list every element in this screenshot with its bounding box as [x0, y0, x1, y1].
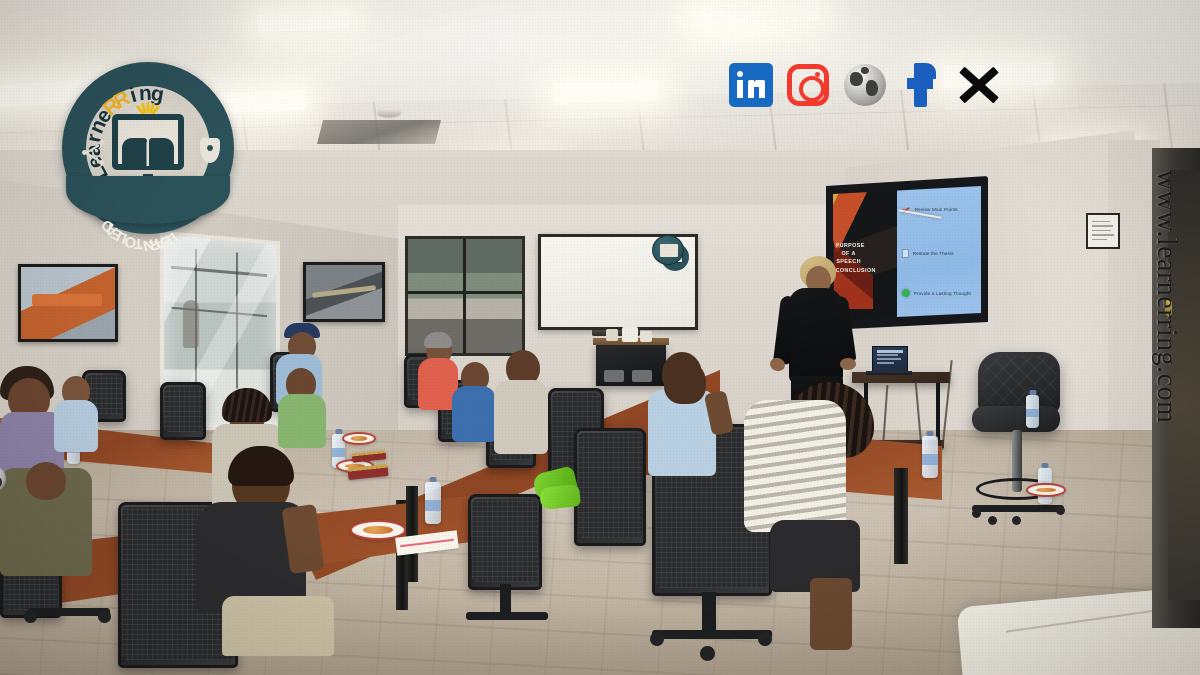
- chair-caster: [24, 610, 37, 623]
- table-leg: [894, 468, 908, 564]
- ceiling-vent: [317, 120, 441, 144]
- drafting-chair-seat: [972, 406, 1060, 432]
- document-icon: [902, 249, 909, 258]
- helicopter-photo: [18, 264, 118, 342]
- water-bottle: [922, 436, 938, 478]
- office-chair: [468, 494, 542, 590]
- wall-seal-logo: [652, 235, 684, 265]
- chair-caster: [1056, 506, 1065, 515]
- supply-cup: [606, 329, 618, 341]
- slide-bullet-3: Provide a Lasting Thought: [902, 289, 978, 297]
- chair-post: [702, 592, 716, 634]
- instagram-icon[interactable]: [785, 62, 831, 108]
- badge-tagline: LEARN TO LEAD: [62, 186, 234, 232]
- ceiling-led-panel: [554, 80, 659, 104]
- supply-bag: [640, 331, 652, 342]
- slide-bullet-3-text: Provide a Lasting Thought: [914, 291, 971, 296]
- social-media-bar: [728, 58, 1002, 112]
- chair-caster: [758, 632, 772, 646]
- drafting-chair-back: [978, 352, 1060, 414]
- background-figure: [183, 300, 199, 348]
- presentation-slide: PURPOSE OF A SPEECH CONCLUSION Review Ma…: [833, 186, 981, 320]
- smoke-detector-icon: [378, 108, 400, 116]
- learnerring-logo-badge: LearneRRing LEARN TO LEAD: [62, 62, 234, 234]
- chair-caster: [650, 632, 664, 646]
- chair-base: [466, 612, 548, 620]
- linkedin-icon[interactable]: [728, 62, 774, 108]
- open-book-icon: [122, 138, 174, 168]
- chair-caster: [700, 646, 715, 661]
- screenshot-root: PURPOSE OF A SPEECH CONCLUSION Review Ma…: [0, 0, 1200, 675]
- student-hair: [424, 332, 452, 348]
- student-body: [494, 380, 548, 454]
- chair-base: [652, 630, 772, 639]
- student-striped-shirt: [744, 400, 846, 532]
- slide-title: PURPOSE OF A SPEECH CONCLUSION: [836, 242, 862, 274]
- slide-title-line-1: PURPOSE OF A: [836, 242, 862, 258]
- aircraft-photo: [303, 262, 385, 322]
- office-chair: [160, 382, 206, 440]
- chair-caster: [988, 516, 997, 525]
- slide-bullet-2-text: Restate the Thesis: [913, 251, 954, 256]
- student-body: [54, 400, 98, 452]
- website-url-watermark: www.learnerring.com: [1150, 170, 1182, 423]
- chair-caster: [1012, 516, 1021, 525]
- exterior-window: [405, 236, 525, 356]
- chair-caster: [972, 509, 981, 518]
- slide-title-line-3: CONCLUSION: [836, 267, 862, 275]
- storage-cabinet: [596, 344, 666, 386]
- student-body: [452, 386, 496, 442]
- student-body: [278, 394, 326, 448]
- slide-bullet-panel: Review Main Points Restate the Thesis Pr…: [897, 186, 981, 320]
- slide-title-line-2: SPEECH: [836, 258, 862, 266]
- slide-bullet-2: Restate the Thesis: [902, 249, 978, 258]
- green-dot-icon: [902, 289, 910, 297]
- ceiling-led-panel: [700, 12, 760, 26]
- student-shorts: [222, 596, 334, 656]
- table-leg: [406, 486, 418, 582]
- office-chair: [574, 428, 646, 546]
- laptop-keyboard: [866, 371, 912, 375]
- student-head: [664, 360, 706, 404]
- water-bottle: [425, 482, 441, 524]
- chair-caster: [98, 610, 111, 623]
- water-bottle: [1026, 395, 1039, 428]
- snack-plate: [342, 432, 376, 445]
- facebook-icon[interactable]: [899, 62, 945, 108]
- globe-icon[interactable]: [842, 62, 888, 108]
- snack-plate: [1026, 483, 1066, 497]
- drafting-chair-base: [972, 505, 1064, 512]
- presenter-right-hand: [840, 358, 856, 370]
- student-head: [26, 462, 66, 500]
- laptop-screen: [872, 346, 908, 372]
- certificate-frame: [1086, 213, 1120, 249]
- slide-bullet-1-text: Review Main Points: [915, 207, 958, 212]
- supply-box: [622, 327, 638, 342]
- student-leg: [810, 578, 852, 650]
- x-twitter-icon[interactable]: [956, 62, 1002, 108]
- sneaker: [539, 484, 581, 510]
- network-node-icon: [82, 140, 104, 166]
